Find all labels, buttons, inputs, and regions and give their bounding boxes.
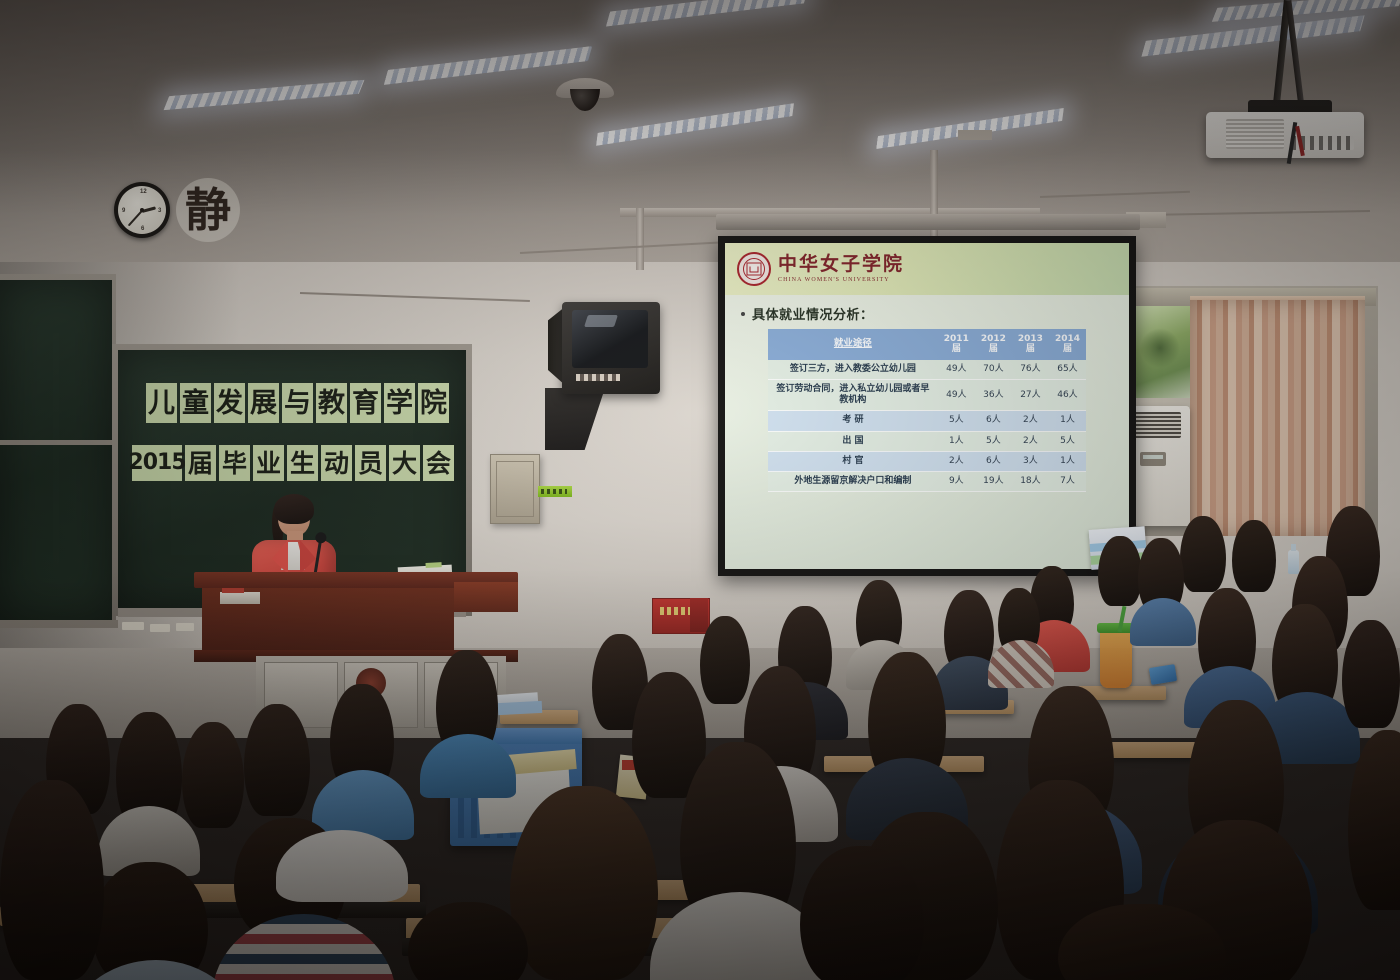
banner-char: 发 — [214, 383, 245, 423]
column-header-2011: 2011届 — [938, 329, 975, 360]
banner-char: 届 — [185, 445, 216, 481]
projection-screen: 中华女子学院 CHINA WOMEN'S UNIVERSITY 具体就业情况分析… — [718, 236, 1136, 576]
quiet-character: 静 — [183, 183, 233, 237]
banner-char: 毕 — [219, 445, 250, 481]
banner-char: 儿 — [146, 383, 177, 423]
chalk-ledge — [0, 620, 118, 628]
classroom-scene: 12 3 6 9 静 儿 童 发 展 与 教 育 学 院 2015 届 毕 业 … — [0, 0, 1400, 980]
cell-value: 27人 — [1012, 379, 1049, 411]
table-row: 签订劳动合同，进入私立幼儿园或者早教机构 49人 36人 27人 46人 — [768, 379, 1086, 411]
cell-value: 70人 — [975, 360, 1012, 380]
cell-value: 36人 — [975, 379, 1012, 411]
banner-char: 生 — [287, 445, 318, 481]
exit-sign-icon — [538, 486, 572, 497]
table-row: 外地生源留京解决户口和编制 9人 19人 18人 7人 — [768, 472, 1086, 492]
column-header-2012: 2012届 — [975, 329, 1012, 360]
water-bottle — [1288, 550, 1299, 574]
crt-wall-monitor — [562, 302, 660, 394]
table-row: 出 国 1人 5人 2人 5人 — [768, 431, 1086, 451]
cell-value: 2人 — [938, 451, 975, 471]
cell-value: 1人 — [938, 431, 975, 451]
row-label: 签订三方，进入教委公立幼儿园 — [768, 360, 938, 380]
university-name-cn: 中华女子学院 — [778, 255, 904, 274]
cell-value: 9人 — [938, 472, 975, 492]
cell-value: 1人 — [1049, 411, 1086, 431]
cell-value: 1人 — [1049, 451, 1086, 471]
ceiling-projector — [1206, 112, 1364, 158]
table-header-row: 就业途径 2011届 2012届 2013届 2014届 — [768, 329, 1086, 360]
cell-value: 49人 — [938, 360, 975, 380]
column-header-2014: 2014届 — [1049, 329, 1086, 360]
drink-cup — [1100, 630, 1132, 688]
university-name-en: CHINA WOMEN'S UNIVERSITY — [778, 277, 904, 283]
row-label: 外地生源留京解决户口和编制 — [768, 472, 938, 492]
cell-value: 5人 — [938, 411, 975, 431]
cell-value: 46人 — [1049, 379, 1086, 411]
chalk — [176, 623, 194, 631]
banner-char: 会 — [423, 445, 454, 481]
cell-value: 5人 — [1049, 431, 1086, 451]
wall-conduit — [636, 208, 644, 270]
cell-value: 65人 — [1049, 360, 1086, 380]
bullet-dot-icon — [741, 312, 745, 316]
banner-char: 育 — [350, 383, 381, 423]
cell-value: 2人 — [1012, 411, 1049, 431]
screen-roller-housing — [716, 214, 1140, 230]
banner-char: 学 — [384, 383, 415, 423]
row-label: 出 国 — [768, 431, 938, 451]
chalk — [122, 622, 144, 630]
banner-char: 教 — [316, 383, 347, 423]
cell-value: 7人 — [1049, 472, 1086, 492]
slide-bullet-text: 具体就业情况分析： — [752, 304, 874, 323]
blackboard-left-panel — [0, 280, 112, 620]
table-row: 考 研 5人 6人 2人 1人 — [768, 411, 1086, 431]
table-row: 签订三方，进入教委公立幼儿园 49人 70人 76人 65人 — [768, 360, 1086, 380]
cell-value: 6人 — [975, 451, 1012, 471]
banner-char: 员 — [355, 445, 386, 481]
cell-value: 5人 — [975, 431, 1012, 451]
blackboard-divider — [0, 440, 112, 445]
banner-char: 动 — [321, 445, 352, 481]
banner-char: 展 — [248, 383, 279, 423]
employment-table: 就业途径 2011届 2012届 2013届 2014届 签订三方，进入教委公立… — [768, 329, 1086, 492]
cell-value: 49人 — [938, 379, 975, 411]
red-wall-box-side — [690, 598, 708, 632]
cell-value: 19人 — [975, 472, 1012, 492]
banner-line-1: 儿 童 发 展 与 教 育 学 院 — [146, 383, 449, 423]
university-seal-icon — [737, 252, 771, 286]
slide-header: 中华女子学院 CHINA WOMEN'S UNIVERSITY — [725, 243, 1129, 295]
window-glass — [1134, 306, 1196, 398]
row-label: 村 官 — [768, 451, 938, 471]
banner-line-2: 2015 届 毕 业 生 动 员 大 会 — [132, 445, 454, 481]
column-header-path: 就业途径 — [768, 329, 938, 360]
banner-char: 童 — [180, 383, 211, 423]
wall-clock: 12 3 6 9 — [114, 182, 170, 238]
slide-surface: 中华女子学院 CHINA WOMEN'S UNIVERSITY 具体就业情况分析… — [725, 243, 1129, 569]
papers — [498, 701, 543, 715]
banner-char: 与 — [282, 383, 313, 423]
banner-char: 院 — [418, 383, 449, 423]
lectern-desk-items — [220, 592, 260, 604]
cell-value: 76人 — [1012, 360, 1049, 380]
cell-value: 3人 — [1012, 451, 1049, 471]
table-row: 村 官 2人 6人 3人 1人 — [768, 451, 1086, 471]
banner-char: 大 — [389, 445, 420, 481]
slide-bullet: 具体就业情况分析： — [741, 304, 1129, 323]
utility-cabinet[interactable] — [490, 454, 540, 524]
column-header-2013: 2013届 — [1012, 329, 1049, 360]
row-label: 签订劳动合同，进入私立幼儿园或者早教机构 — [768, 379, 938, 411]
cell-value: 18人 — [1012, 472, 1049, 492]
row-label: 考 研 — [768, 411, 938, 431]
cell-value: 6人 — [975, 411, 1012, 431]
cell-value: 2人 — [1012, 431, 1049, 451]
lectern — [194, 572, 518, 662]
ceiling-fixture — [958, 130, 992, 140]
window-curtain[interactable] — [1190, 300, 1365, 536]
chalk — [150, 624, 170, 632]
banner-char: 业 — [253, 445, 284, 481]
banner-year: 2015 — [132, 445, 182, 481]
